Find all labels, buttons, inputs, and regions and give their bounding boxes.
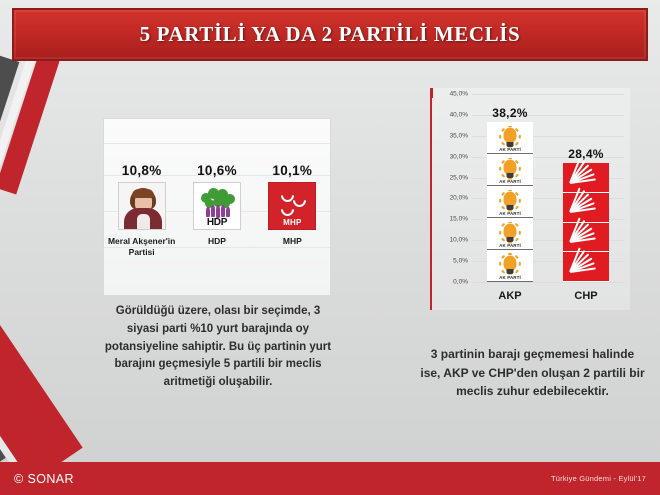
chart-x-label-chp: CHP [559,290,613,302]
mhp-logo-icon: MHP [268,182,316,230]
chart-y-tick: 35,0% [450,132,468,139]
page-title: 5 PARTİLİ YA DA 2 PARTİLİ MECLİS [140,22,521,47]
decor-diagonal-bottom-gray [0,333,6,472]
chart-y-tick: 5,0% [453,258,468,265]
party-percent: 10,6% [197,163,237,178]
decor-diagonal-top-red [0,55,59,195]
footer-bar: © SONAR Türkiye Gündemi - Eylül'17 [0,462,660,495]
hdp-logo-text: HDP [194,217,240,228]
ak-parti-bulb-icon: AK PARTİ [487,122,533,154]
footer-copyright: © SONAR [14,472,74,486]
chart-bars: 38,2% AK PARTİAK PARTİAK PARTİAK PARTİAK… [472,94,624,282]
chart-y-tick: 40,0% [450,111,468,118]
party-panel: 10,8% Meral Akşener'in Partisi 10,6% [103,118,331,296]
party-item-hdp: 10,6% [182,163,252,247]
mhp-logo-text: MHP [269,218,315,227]
party-percent: 10,8% [122,163,162,178]
ak-parti-bulb-icon: AK PARTİ [487,186,533,218]
chp-six-arrows-icon [563,163,609,193]
right-body-text: 3 partinin barajı geçmemesi halinde ise,… [420,345,645,401]
chart-panel: 45,0%40,0%35,0%30,0%25,0%20,0%15,0%10,0%… [430,88,630,310]
party-list: 10,8% Meral Akşener'in Partisi 10,6% [104,163,330,289]
footer-source: Türkiye Gündemi - Eylül'17 [551,474,646,483]
chart-plot-area: 38,2% AK PARTİAK PARTİAK PARTİAK PARTİAK… [472,94,624,282]
ak-parti-bulb-icon: AK PARTİ [487,218,533,250]
chart-y-tick: 0,0% [453,279,468,286]
chart-gridline [472,282,624,283]
decor-diagonal-bottom-red [0,323,83,482]
decor-diagonal-top-gray [0,54,19,195]
chart-y-tick: 45,0% [450,91,468,98]
hdp-logo-icon: HDP [193,182,241,230]
aksener-photo-icon [118,182,166,230]
party-label: Meral Akşener'in Partisi [107,236,177,257]
title-bar: 5 PARTİLİ YA DA 2 PARTİLİ MECLİS [12,8,648,61]
party-label: MHP [283,236,302,247]
ak-parti-icon-label: AK PARTİ [487,147,533,152]
chart-bar-akp: 38,2% AK PARTİAK PARTİAK PARTİAK PARTİAK… [483,106,537,282]
chart-x-axis: AKP CHP [472,286,624,306]
chart-bar-value-chp: 28,4% [568,147,604,161]
decor-diagonal-bottom-white [0,338,20,467]
chart-y-tick: 10,0% [450,237,468,244]
party-label: HDP [208,236,226,247]
chart-y-tick: 30,0% [450,153,468,160]
party-item-aksener: 10,8% Meral Akşener'in Partisi [107,163,177,257]
ak-parti-bulb-icon: AK PARTİ [487,154,533,186]
chart-y-tick: 20,0% [450,195,468,202]
chart-bar-value-akp: 38,2% [492,106,528,120]
ak-parti-icon-label: AK PARTİ [487,243,533,248]
slide: 5 PARTİLİ YA DA 2 PARTİLİ MECLİS 10,8% M… [0,0,660,495]
left-body-text: Görüldüğü üzere, olası bir seçimde, 3 si… [104,303,332,392]
decor-diagonal-top-white [0,57,35,193]
ak-parti-icon-label: AK PARTİ [487,211,533,216]
ak-parti-icon-label: AK PARTİ [487,275,533,280]
chart-bar-chp: 28,4% [559,147,613,282]
chart-accent-mark [430,88,433,98]
chart-y-axis: 45,0%40,0%35,0%30,0%25,0%20,0%15,0%10,0%… [434,94,470,282]
chart-y-tick: 25,0% [450,174,468,181]
chp-six-arrows-icon [563,193,609,223]
ak-parti-icon-label: AK PARTİ [487,179,533,184]
chp-six-arrows-icon [563,252,609,282]
ak-parti-bulb-icon: AK PARTİ [487,250,533,282]
party-percent: 10,1% [272,163,312,178]
chart-y-tick: 15,0% [450,216,468,223]
chart-x-label-akp: AKP [483,290,537,302]
chp-six-arrows-icon [563,223,609,253]
party-item-mhp: 10,1% MHP MHP [257,163,327,247]
